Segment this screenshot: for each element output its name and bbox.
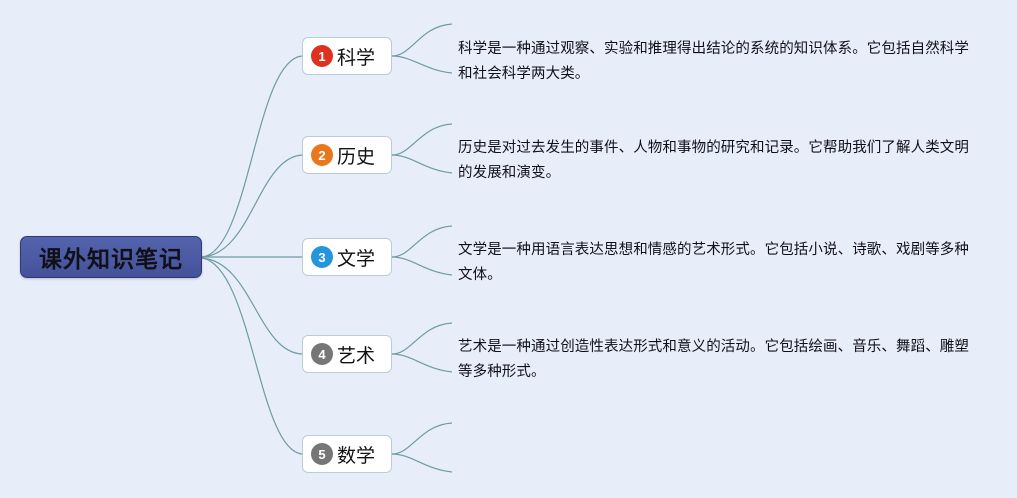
topic-node-4[interactable]: 4 艺术 [302, 335, 392, 373]
edge-root-to-2 [202, 155, 302, 257]
mindmap-canvas: 课外知识笔记 1 科学 科学是一种通过观察、实验和推理得出结论的系统的知识体系。… [0, 0, 1017, 498]
edge-3-to-desc-a [392, 226, 452, 257]
edge-2-to-desc-b [392, 155, 452, 173]
edge-5-to-desc-a [392, 423, 452, 454]
topic-label-2: 历史 [337, 142, 375, 169]
topic-description-3: 文学是一种用语言表达思想和情感的艺术形式。它包括小说、诗歌、戏剧等多种文体。 [458, 238, 978, 288]
topic-node-2[interactable]: 2 历史 [302, 136, 392, 174]
topic-node-3[interactable]: 3 文学 [302, 238, 392, 276]
topic-badge-5: 5 [311, 443, 333, 465]
edge-5-to-desc-b [392, 454, 452, 472]
edge-1-to-desc-b [392, 56, 452, 73]
topic-description-1: 科学是一种通过观察、实验和推理得出结论的系统的知识体系。它包括自然科学和社会科学… [458, 37, 978, 87]
edge-2-to-desc-a [392, 124, 452, 155]
edge-root-to-1 [202, 56, 302, 257]
edge-root-to-5 [202, 258, 302, 454]
topic-badge-4: 4 [311, 343, 333, 365]
edge-1-to-desc-a [392, 24, 452, 56]
edge-3-to-desc-b [392, 257, 452, 275]
edge-4-to-desc-b [392, 354, 452, 372]
topic-label-1: 科学 [337, 43, 375, 70]
root-node-label: 课外知识笔记 [39, 240, 183, 274]
root-node[interactable]: 课外知识笔记 [20, 236, 202, 278]
edge-root-to-4 [202, 258, 302, 354]
topic-badge-1: 1 [311, 45, 333, 67]
topic-label-5: 数学 [337, 441, 375, 468]
topic-badge-3: 3 [311, 246, 333, 268]
edge-4-to-desc-a [392, 323, 452, 354]
topic-label-4: 艺术 [337, 341, 375, 368]
topic-label-3: 文学 [337, 244, 375, 271]
topic-node-5[interactable]: 5 数学 [302, 435, 392, 473]
topic-node-1[interactable]: 1 科学 [302, 37, 392, 75]
topic-description-2: 历史是对过去发生的事件、人物和事物的研究和记录。它帮助我们了解人类文明的发展和演… [458, 136, 978, 186]
topic-description-4: 艺术是一种通过创造性表达形式和意义的活动。它包括绘画、音乐、舞蹈、雕塑等多种形式… [458, 335, 978, 385]
topic-badge-2: 2 [311, 144, 333, 166]
